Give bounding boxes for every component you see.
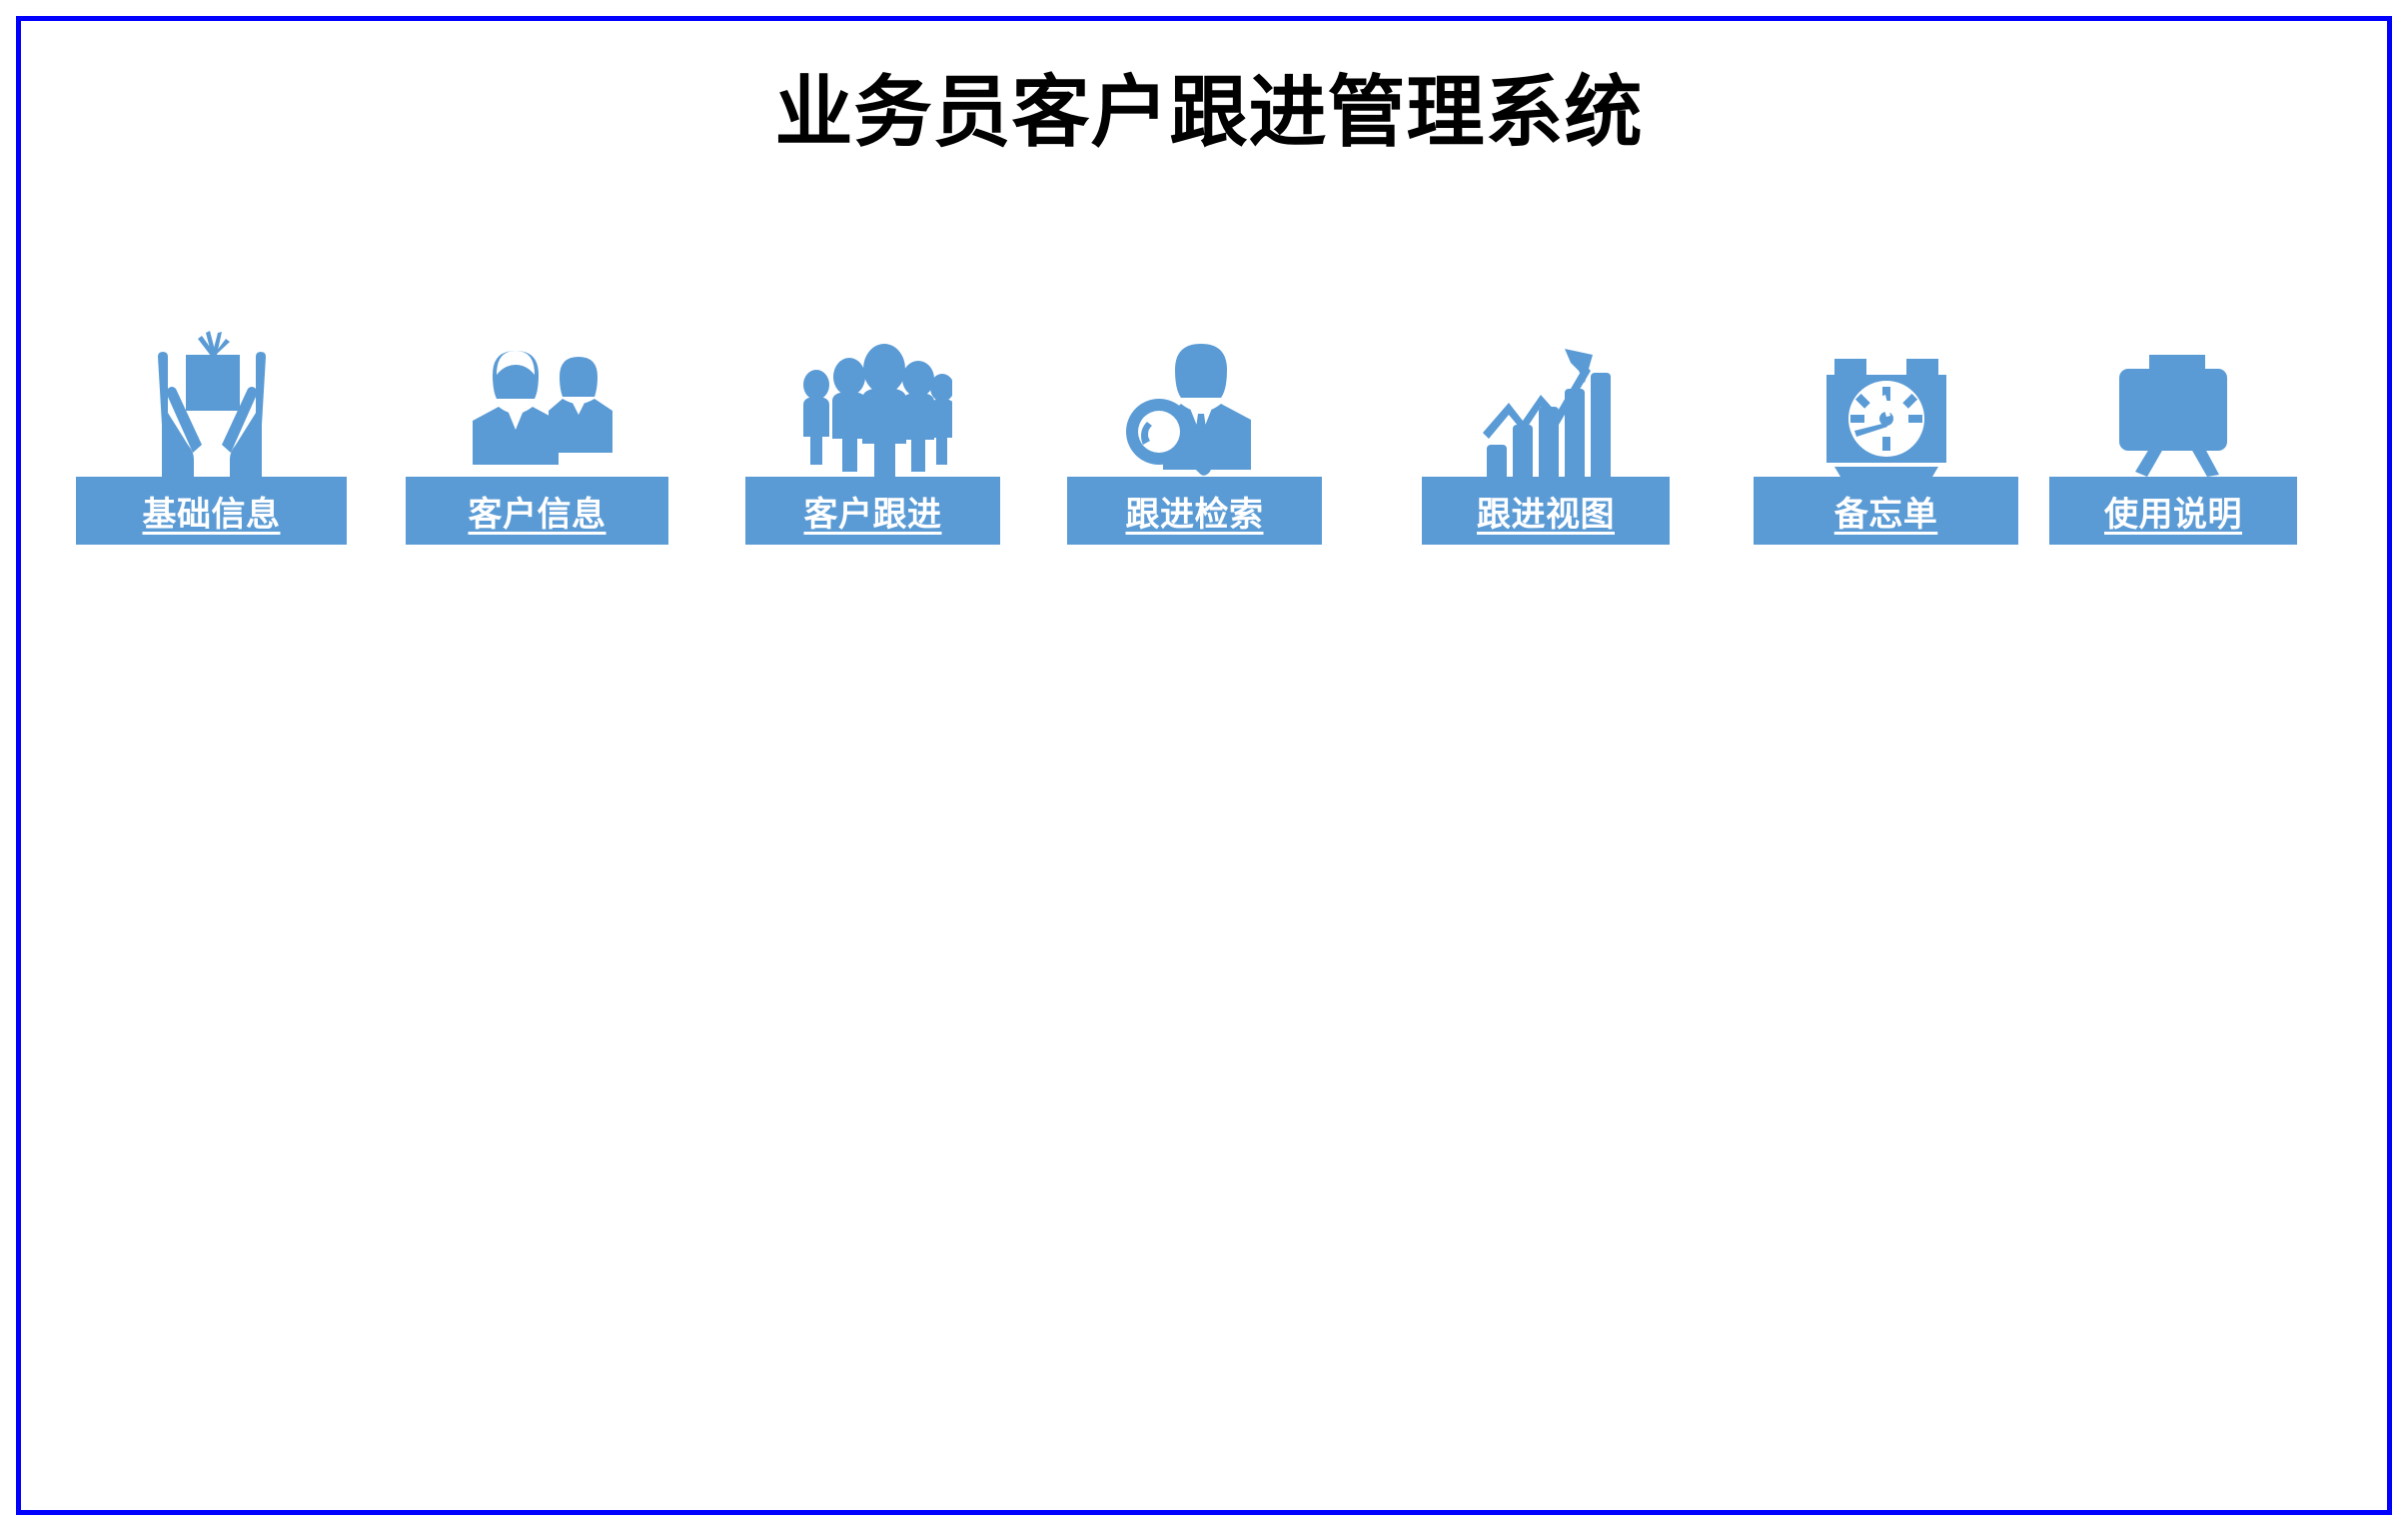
nav-item-customer-followup[interactable]: 客户跟进: [745, 291, 1000, 581]
nav-button-customer-info[interactable]: 客户信息: [406, 477, 668, 545]
nav-item-memo[interactable]: 备忘单: [1754, 291, 2018, 581]
person-magnifier-search-icon: [1067, 291, 1322, 481]
two-people-icon: [406, 291, 668, 481]
page-title: 业务员客户跟进管理系统: [21, 71, 2397, 157]
alarm-clock-icon: [1754, 291, 2018, 481]
nav-item-followup-view[interactable]: 跟进视图: [1422, 291, 1670, 581]
nav-button-label: 客户信息: [469, 487, 606, 536]
application-root: 业务员客户跟进管理系统: [0, 0, 2408, 1533]
nav-button-customer-followup[interactable]: 客户跟进: [745, 477, 1000, 545]
nav-item-user-guide[interactable]: 使用说明: [2049, 291, 2297, 581]
nav-button-basic-info[interactable]: 基础信息: [76, 477, 347, 545]
nav-button-label: 跟进检索: [1126, 487, 1264, 536]
bar-chart-growth-arrow-icon: [1422, 291, 1670, 481]
nav-item-followup-search[interactable]: 跟进检索: [1067, 291, 1322, 581]
nav-button-label: 基础信息: [143, 487, 281, 536]
nav-button-label: 跟进视图: [1477, 487, 1615, 536]
nav-button-memo[interactable]: 备忘单: [1754, 477, 2018, 545]
nav-button-followup-search[interactable]: 跟进检索: [1067, 477, 1322, 545]
nav-button-user-guide[interactable]: 使用说明: [2049, 477, 2297, 545]
presentation-board-easel-icon: [2049, 291, 2297, 477]
nav-item-customer-info[interactable]: 客户信息: [406, 291, 668, 581]
hands-holding-gift-icon: [76, 291, 347, 477]
nav-button-label: 使用说明: [2104, 487, 2242, 536]
nav-button-followup-view[interactable]: 跟进视图: [1422, 477, 1670, 545]
navigation-button-strip: 基础信息: [21, 291, 2397, 581]
nav-button-label: 备忘单: [1834, 487, 1938, 536]
people-group-icon: [745, 291, 1000, 481]
nav-item-basic-info[interactable]: 基础信息: [76, 291, 347, 581]
nav-button-label: 客户跟进: [804, 487, 942, 536]
page-frame-border: 业务员客户跟进管理系统: [16, 16, 2392, 1515]
